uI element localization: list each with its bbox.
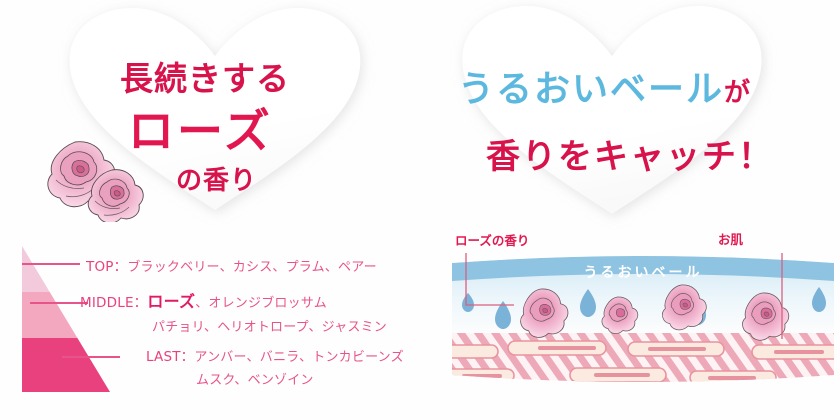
left-heart-line2: ローズ [128, 108, 273, 154]
leader-line-top [22, 263, 80, 265]
note-label-last: LAST： [146, 349, 194, 365]
pyramid-layer-top [22, 246, 50, 292]
note-label-middle: MIDDLE： [80, 295, 147, 311]
note-row-last: LAST：アンバー、バニラ、トンカビーンズ ムスク、ベンゾイン [146, 345, 404, 388]
right-heart-particle: が [724, 78, 751, 108]
infographic-canvas: 長続きする ローズ の香り うるおいベールが 香りを [0, 0, 840, 420]
note-items-middle-line2: パチョリ、ヘリオトロープ、ジャスミン [152, 316, 387, 335]
note-items-top-line1: ブラックベリー、カシス、プラム、ペアー [127, 260, 377, 275]
diagram-label-skin: お肌 [718, 229, 743, 248]
note-items-middle-line1: 、オレンジブロッサム [195, 296, 327, 311]
note-row-top: TOP：ブラックベリー、カシス、プラム、ペアー [86, 255, 377, 275]
right-heart-veil-text: うるおいベール [458, 69, 724, 110]
right-heart-shape [452, 2, 772, 230]
right-heart-line2: 香りをキャッチ！ [486, 140, 774, 174]
note-row-middle: MIDDLE：ローズ、オレンジブロッサム パチョリ、ヘリオトロープ、ジャスミン [80, 288, 387, 335]
right-heart-line1: うるおいベールが [458, 72, 751, 108]
note-label-top: TOP： [86, 259, 127, 275]
left-heart-line1: 長続きする [120, 62, 290, 95]
skin-veil-diagram: うるおいベール [452, 253, 834, 393]
leader-line-last [62, 356, 120, 358]
pyramid-layer-middle [22, 292, 77, 338]
note-items-last-line1: アンバー、バニラ、トンカビーンズ [194, 350, 403, 365]
note-items-last-line2: ムスク、ベンゾイン [196, 369, 404, 388]
pyramid-layer-last [22, 338, 110, 392]
diagram-label-rose-scent: ローズの香り [455, 230, 529, 249]
veil-band-caption: うるおいベール [584, 265, 703, 281]
note-highlight-rose: ローズ [147, 292, 195, 311]
left-heart-line3: の香り [176, 168, 257, 194]
